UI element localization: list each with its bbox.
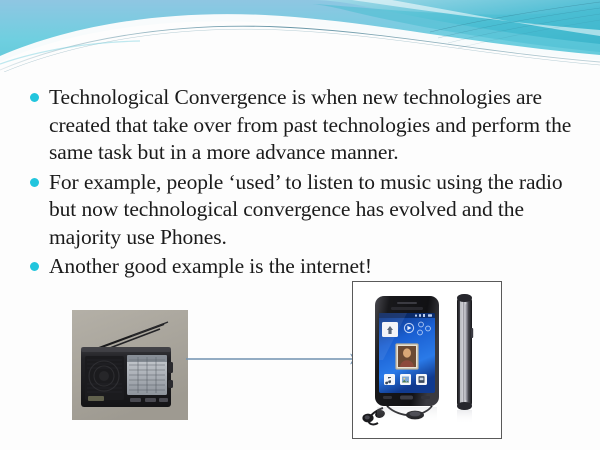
bullet-dot-icon	[30, 93, 39, 102]
bullet-text-2: For example, people ‘used’ to listen to …	[49, 169, 575, 252]
slide-header-wave-decoration	[0, 0, 600, 72]
evolution-arrow	[186, 348, 362, 370]
bullet-item-2: For example, people ‘used’ to listen to …	[30, 169, 575, 252]
bullet-item-1: Technological Convergence is when new te…	[30, 84, 575, 167]
presentation-slide: Technological Convergence is when new te…	[0, 0, 600, 450]
bullet-text-1: Technological Convergence is when new te…	[49, 84, 575, 167]
smartphone-photo	[352, 281, 502, 439]
bullet-dot-icon	[30, 178, 39, 187]
bullet-dot-icon	[30, 262, 39, 271]
portable-radio-photo	[72, 310, 188, 420]
slide-body-text: Technological Convergence is when new te…	[30, 84, 575, 283]
bullet-item-3: Another good example is the internet!	[30, 253, 575, 281]
bullet-text-3: Another good example is the internet!	[49, 253, 575, 281]
